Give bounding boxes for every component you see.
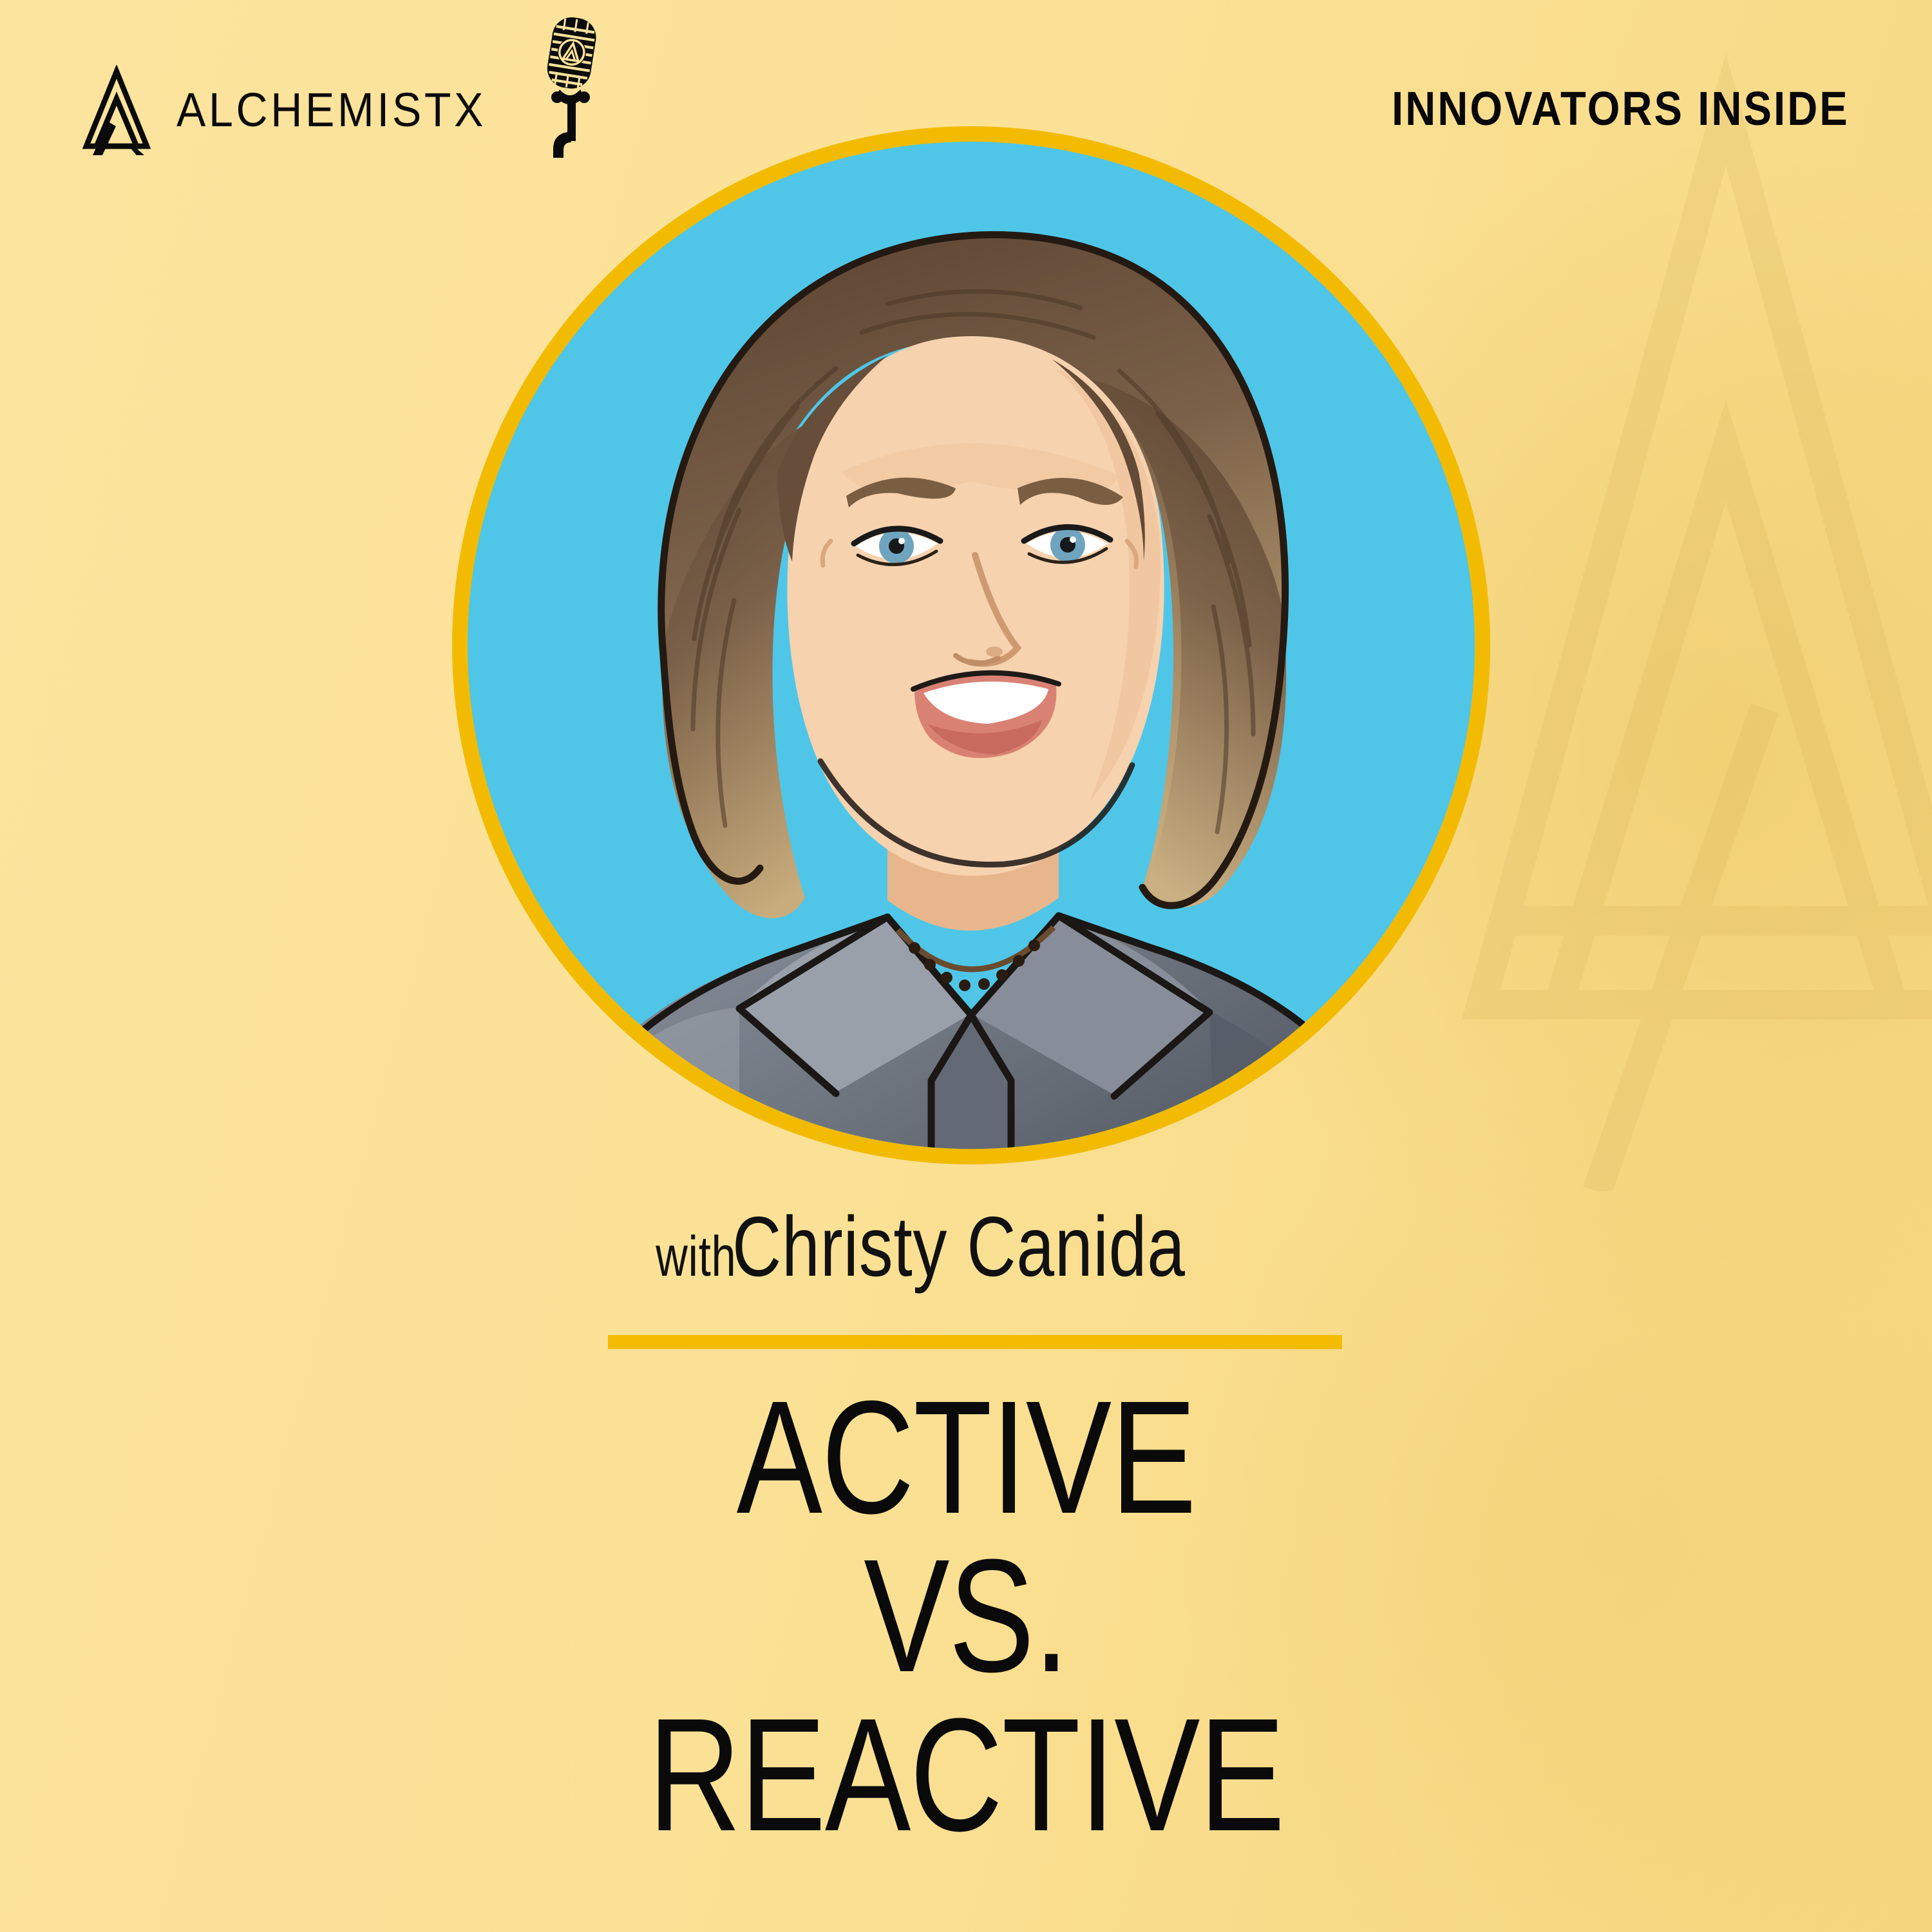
guest-prefix: with — [656, 1228, 736, 1285]
title-divider — [608, 1335, 1342, 1349]
episode-title-line-1: ACTIVE — [193, 1378, 1739, 1537]
guest-credit-line: withChristy Canida — [0, 1204, 1932, 1289]
episode-title-line-3: REACTIVE — [193, 1696, 1739, 1854]
episode-title: ACTIVE VS. REACTIVE — [0, 1378, 1932, 1854]
alchemist-a-icon — [82, 65, 151, 155]
guest-name: Christy Canida — [732, 1204, 1186, 1289]
guest-portrait — [437, 111, 1506, 1180]
podcast-cover-art: ALCHEMISTX — [0, 0, 1932, 1932]
episode-title-line-2: VS. — [193, 1537, 1739, 1695]
